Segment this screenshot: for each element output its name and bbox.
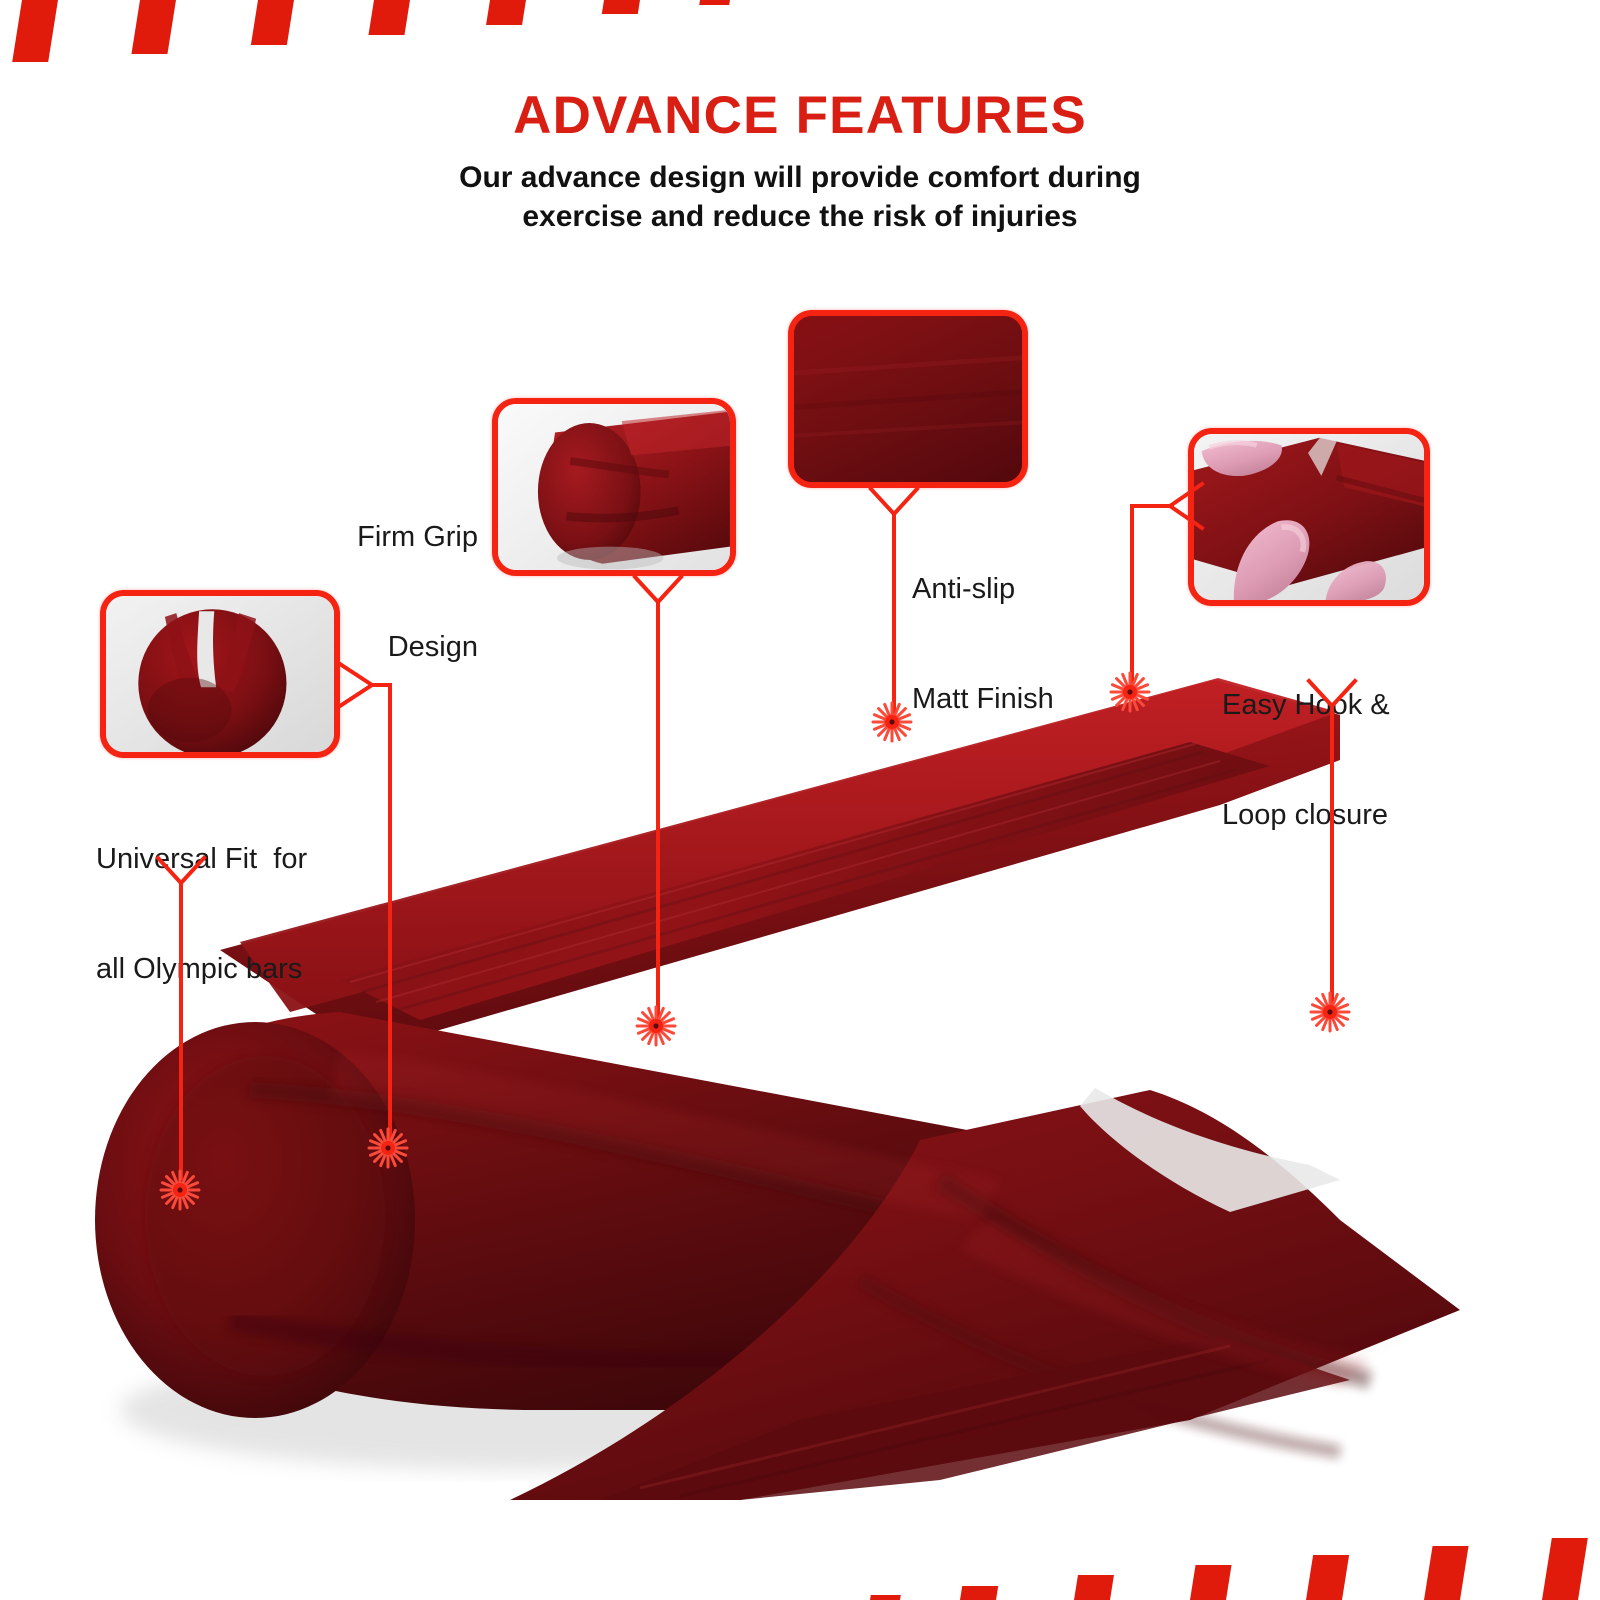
diagonal-stripe-icon — [1542, 1538, 1588, 1600]
subtitle-line-1: Our advance design will provide comfort … — [0, 158, 1600, 198]
page-subtitle: Our advance design will provide comfort … — [0, 158, 1600, 237]
subtitle-line-2: exercise and reduce the risk of injuries — [0, 197, 1600, 237]
diagonal-stripe-icon — [602, 0, 640, 14]
diagonal-stripe-icon — [12, 0, 58, 62]
bottom-stripe-band — [900, 1530, 1600, 1600]
callout-thumbnail-easy-hook[interactable] — [1188, 428, 1430, 606]
starburst-marker-icon — [366, 1126, 410, 1170]
callout-label-line-1: Universal Fit for — [96, 841, 396, 878]
header-block: ADVANCE FEATURES Our advance design will… — [0, 88, 1600, 237]
starburst-marker-icon — [158, 1168, 202, 1212]
connector-universal-fit-label-v — [179, 882, 183, 1180]
starburst-marker-icon — [870, 700, 914, 744]
callout-label-line-1: Firm Grip — [280, 519, 478, 556]
connector-easy-hook-h — [1130, 504, 1174, 508]
callout-thumbnail-anti-slip[interactable] — [788, 310, 1028, 488]
callout-label-firm-grip: Firm Grip Design — [280, 446, 478, 738]
diagonal-stripe-icon — [870, 1595, 901, 1600]
starburst-marker-icon — [1308, 990, 1352, 1034]
diagonal-stripe-icon — [960, 1586, 998, 1600]
diagonal-stripe-icon — [1190, 1565, 1232, 1600]
page-title: ADVANCE FEATURES — [0, 88, 1600, 144]
connector-easy-hook-label-v — [1330, 705, 1334, 1010]
diagonal-stripe-icon — [368, 0, 410, 35]
callout-label-line-1: Easy Hook & — [1222, 687, 1522, 724]
callout-label-line-2: all Olympic bars — [96, 951, 396, 988]
connector-anti-slip-v — [892, 513, 896, 721]
connector-firm-grip-v — [656, 601, 660, 1026]
connector-easy-hook-v — [1130, 504, 1134, 689]
callout-label-line-2: Design — [280, 629, 478, 666]
callout-label-universal-fit: Universal Fit for all Olympic bars — [96, 768, 396, 1060]
diagonal-stripe-icon — [251, 0, 294, 45]
top-stripe-band — [0, 0, 700, 70]
infographic-canvas: ADVANCE FEATURES Our advance design will… — [0, 0, 1600, 1600]
connector-universal-fit-v — [388, 683, 392, 1153]
callout-label-easy-hook: Easy Hook & Loop closure — [1222, 614, 1522, 906]
diagonal-stripe-icon — [1306, 1555, 1349, 1600]
diagonal-stripe-icon — [699, 0, 730, 5]
callout-label-line-2: Loop closure — [1222, 797, 1522, 834]
starburst-marker-icon — [634, 1004, 678, 1048]
diagonal-stripe-icon — [1424, 1546, 1469, 1600]
diagonal-stripe-icon — [486, 0, 526, 25]
starburst-marker-icon — [1108, 670, 1152, 714]
diagonal-stripe-icon — [1074, 1575, 1114, 1600]
callout-thumbnail-firm-grip[interactable] — [492, 398, 736, 576]
diagonal-stripe-icon — [131, 0, 176, 54]
